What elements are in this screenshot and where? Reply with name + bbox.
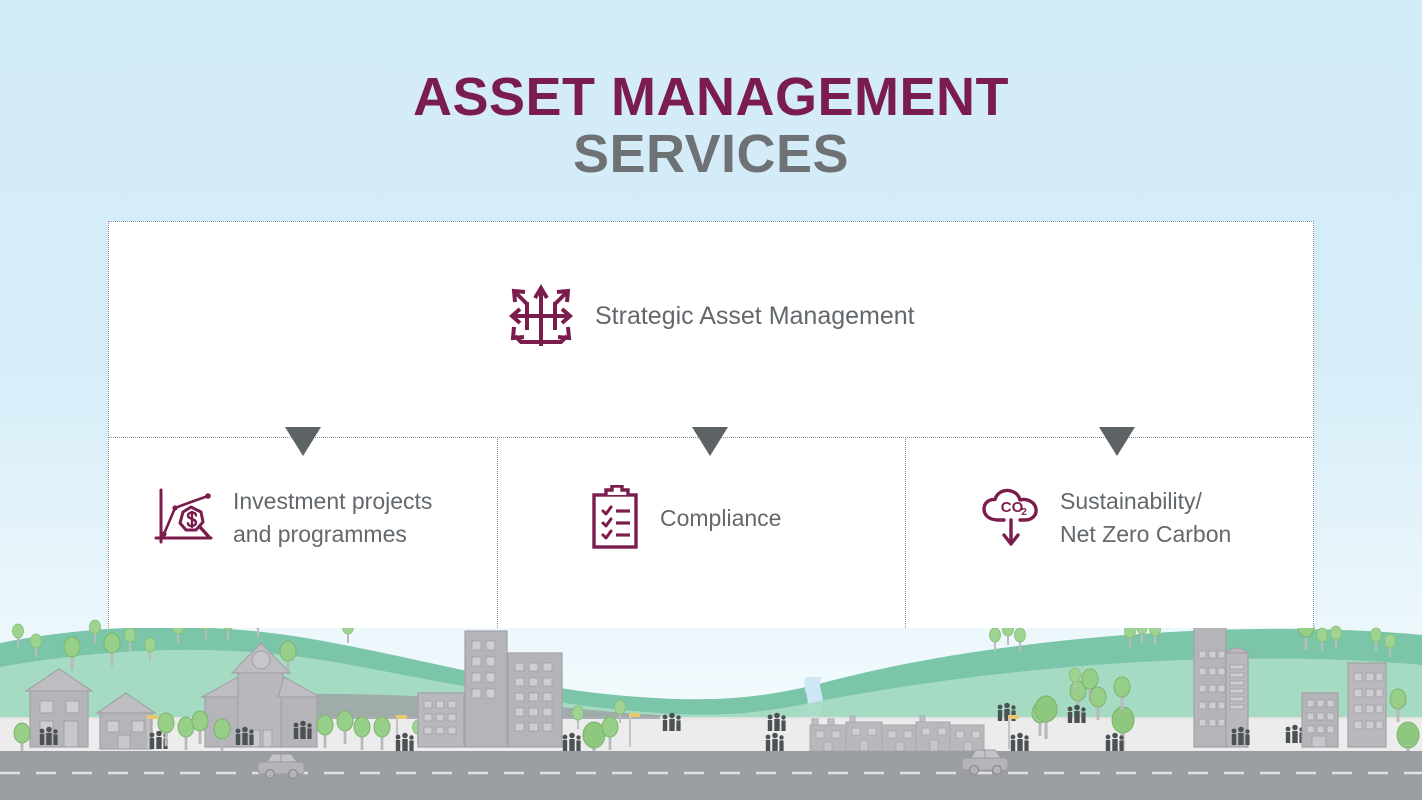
diagram-node-label: Strategic Asset Management <box>595 302 915 331</box>
co2-cloud-down-arrow-icon: CO 2 <box>980 488 1044 548</box>
pedestrians <box>766 733 784 751</box>
clipboard-checklist-icon <box>588 485 644 551</box>
diagram-node-sustainability-net-zero[interactable]: CO 2 Sustainability/ Net Zero Carbon <box>980 485 1231 550</box>
slide-canvas: ASSET MANAGEMENT SERVICES <box>0 0 1422 800</box>
tree <box>990 628 1001 651</box>
page-title: ASSET MANAGEMENT SERVICES <box>0 70 1422 182</box>
label-line-1: Investment projects <box>233 488 432 514</box>
title-line-primary: ASSET MANAGEMENT <box>0 70 1422 125</box>
apartment-block-b <box>418 693 464 747</box>
office-tower-main <box>1194 609 1226 747</box>
office-block-mid <box>1302 693 1338 747</box>
pedestrians <box>396 733 414 751</box>
office-tower-slim <box>1226 648 1248 747</box>
pedestrians <box>294 721 312 739</box>
pedestrians <box>563 733 581 751</box>
svg-text:CO: CO <box>1001 499 1024 516</box>
road <box>0 751 1422 800</box>
diagram-node-label: Compliance <box>660 502 781 535</box>
diagram-node-label: Investment projects and programmes <box>233 485 432 550</box>
diagram-branch-row: Investment projects and programmes <box>108 437 1314 628</box>
multi-direction-arrows-icon <box>505 280 577 352</box>
diagram-node-label: Sustainability/ Net Zero Carbon <box>1060 485 1231 550</box>
diagram-node-investment-projects[interactable]: Investment projects and programmes <box>153 485 432 550</box>
apartment-block-a <box>465 631 507 747</box>
label-line-1: Sustainability/ <box>1060 488 1202 514</box>
pedestrians <box>768 713 786 731</box>
pedestrians <box>1232 727 1250 745</box>
diagram-node-compliance[interactable]: Compliance <box>588 485 781 551</box>
pedestrians <box>1068 705 1086 723</box>
pedestrians <box>40 727 58 745</box>
title-line-secondary: SERVICES <box>0 127 1422 182</box>
chart-magnifier-dollar-icon <box>153 486 217 550</box>
diagram-node-strategic-asset-management[interactable]: Strategic Asset Management <box>505 280 915 352</box>
label-line-2: and programmes <box>233 521 407 547</box>
pedestrians <box>1011 733 1029 751</box>
pedestrians <box>236 727 254 745</box>
apartment-block-c <box>508 653 562 747</box>
svg-text:2: 2 <box>1021 507 1027 518</box>
label-line-2: Net Zero Carbon <box>1060 521 1231 547</box>
pedestrians <box>1106 733 1124 751</box>
office-block-right <box>1348 663 1386 747</box>
pedestrians <box>663 713 681 731</box>
pedestrians <box>1286 725 1304 743</box>
